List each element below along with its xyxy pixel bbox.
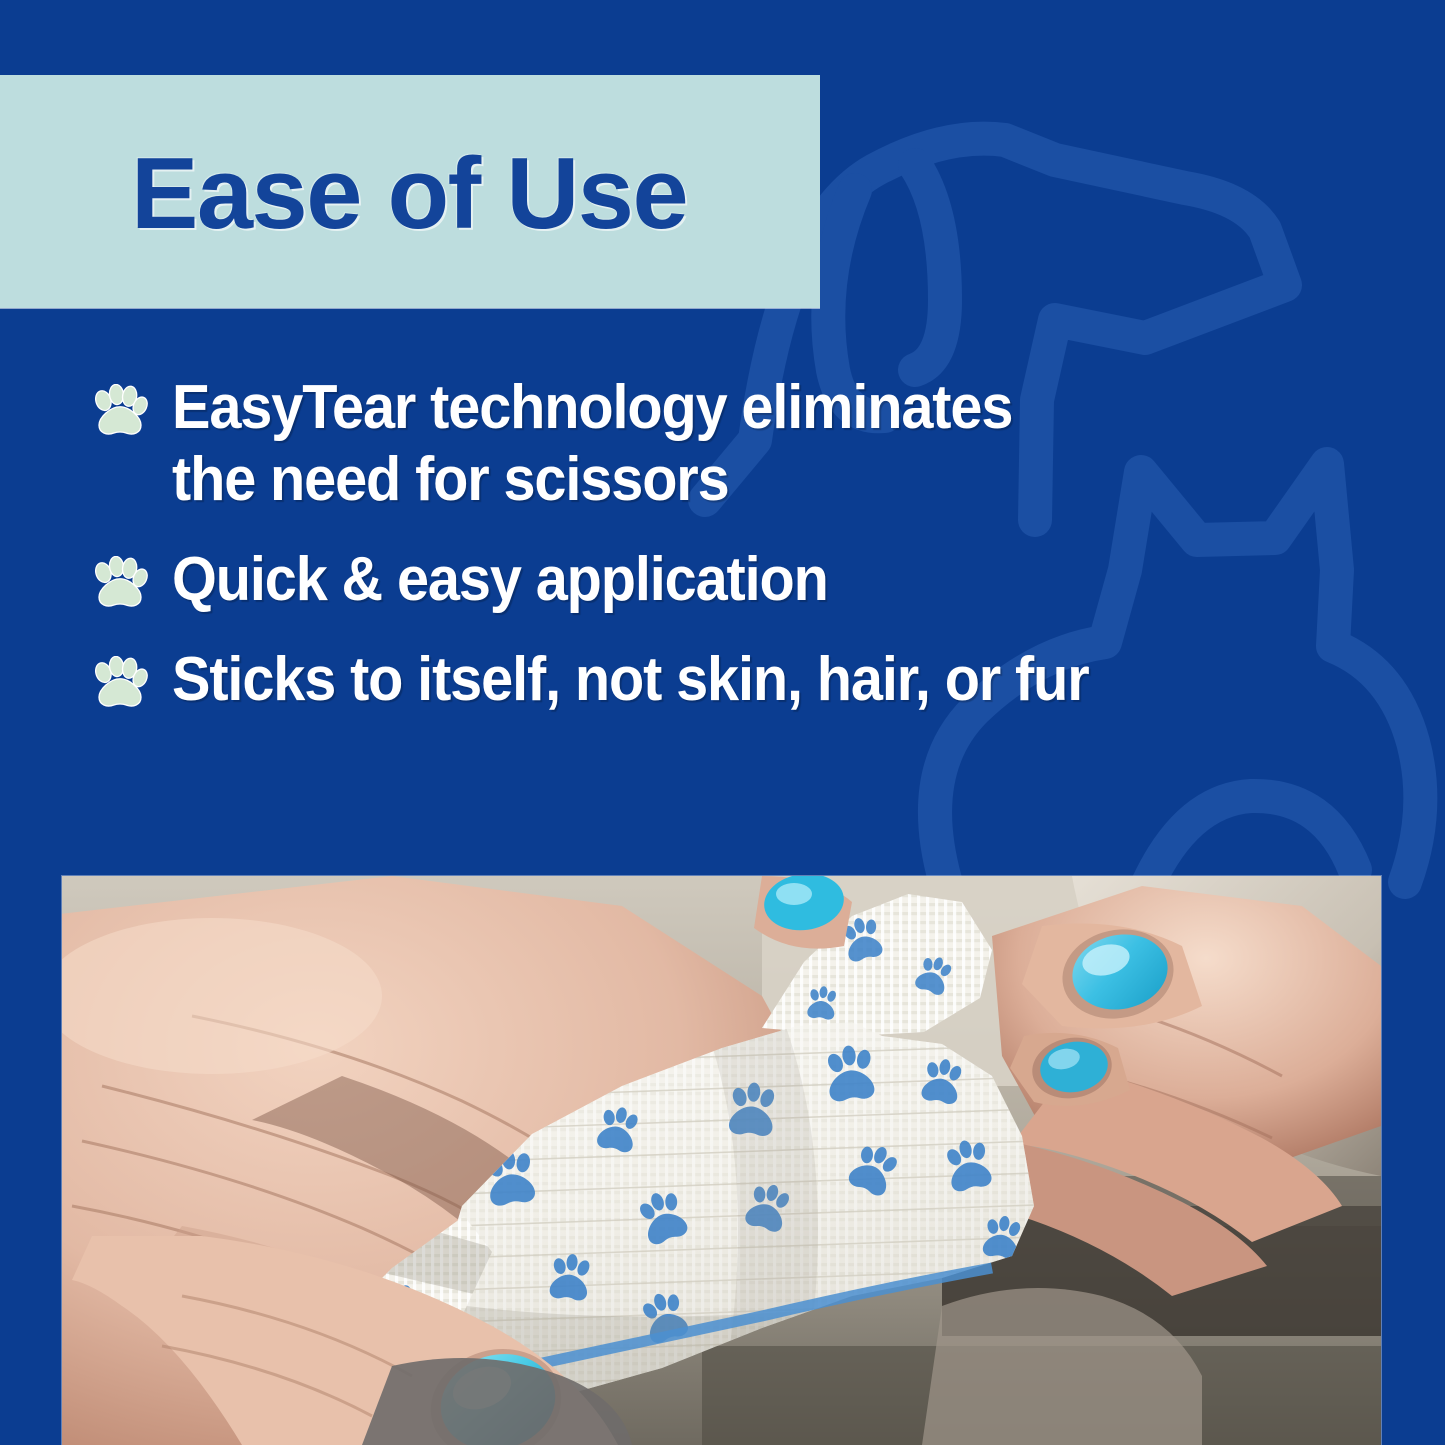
feature-bullet-list: EasyTear technology eliminates the need … [92,372,1392,716]
paw-print-icon [92,656,148,712]
paw-print-icon [92,384,148,440]
ease-of-use-poster: Ease of Use EasyTear technology eliminat… [0,0,1445,1445]
page-title: Ease of Use [131,144,687,245]
list-item-label: Quick & easy application [172,544,828,616]
list-item: Sticks to itself, not skin, hair, or fur [92,644,1392,716]
paw-print-icon [92,556,148,612]
list-item-label: EasyTear technology eliminates the need … [172,372,1012,516]
list-item: Quick & easy application [92,544,1392,616]
list-item-label: Sticks to itself, not skin, hair, or fur [172,644,1089,716]
list-item: EasyTear technology eliminates the need … [92,372,1392,516]
hands-tearing-paw-print-bandage-photo [62,876,1381,1445]
